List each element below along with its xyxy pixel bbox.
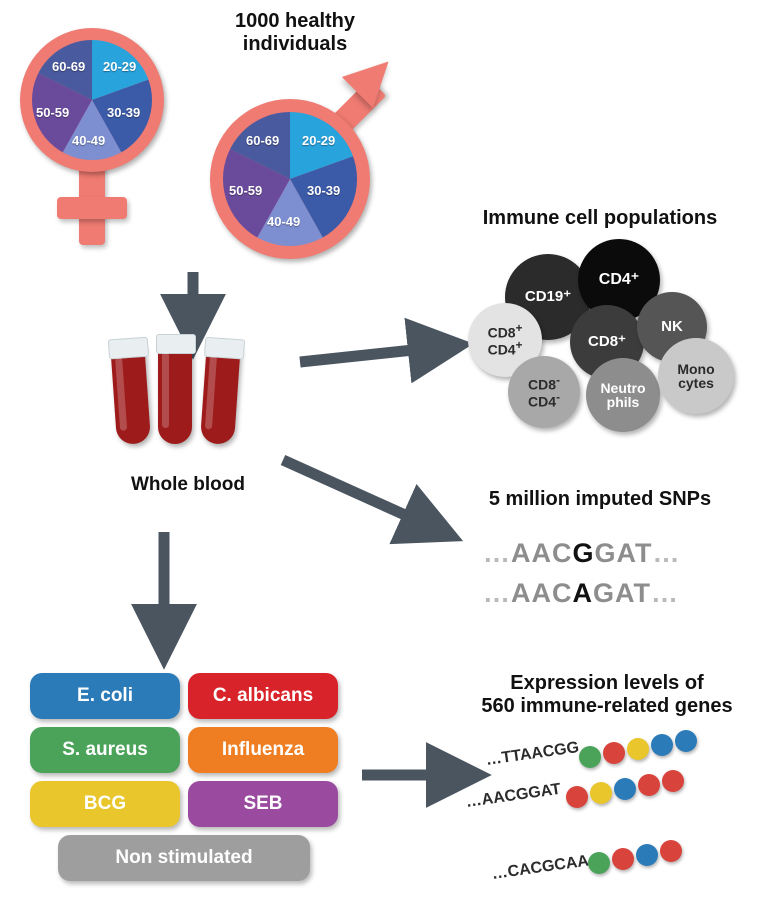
snp-sequence-2: …AACAGAT… <box>483 578 679 609</box>
stimulus-seb[interactable]: SEB <box>188 781 338 827</box>
snp-suffix: … <box>653 538 681 568</box>
expression-title-line1: Expression levels of <box>452 672 762 695</box>
female-label-50-59: 50-59 <box>36 105 69 120</box>
immune-cell-label: Neutro <box>600 381 645 395</box>
snp-prefix: … <box>483 538 511 568</box>
expression-bead <box>566 786 588 808</box>
female-stem-horizontal <box>57 197 127 219</box>
male-symbol: 20-29 30-39 40-49 50-59 60-69 <box>196 55 416 275</box>
stimulus-non-stimulated[interactable]: Non stimulated <box>58 835 310 881</box>
expression-sequence: …CACGCAA <box>491 852 590 883</box>
blood-tube <box>199 343 241 455</box>
expression-bead <box>614 778 636 800</box>
male-label-20-29: 20-29 <box>302 133 335 148</box>
immune-cell-label: CD4+ <box>488 340 523 357</box>
snp-head: AAC <box>511 538 573 568</box>
snp-tail: GAT <box>593 578 651 608</box>
arrow-blood-to-immune <box>300 348 432 362</box>
immune-cell-label: CD19⁺ <box>525 289 571 304</box>
expression-bead <box>636 844 658 866</box>
expression-bead <box>627 738 649 760</box>
cohort-title-line2: individuals <box>170 33 420 56</box>
immune-cell-label: phils <box>607 395 640 409</box>
arrow-blood-to-snps <box>283 460 425 524</box>
expression-title-line2: 560 immune-related genes <box>452 695 762 718</box>
snp-title: 5 million imputed SNPs <box>450 488 750 511</box>
expression-title: Expression levels of 560 immune-related … <box>452 672 762 718</box>
blood-tube <box>158 340 192 452</box>
expression-bead <box>603 742 625 764</box>
immune-cell-label: cytes <box>678 376 714 390</box>
expression-sequence: …AACGGAT <box>465 781 562 812</box>
snp-tail: GAT <box>595 538 653 568</box>
stimulus-label: C. albicans <box>213 685 313 707</box>
expression-bead <box>638 774 660 796</box>
stimulus-label: Non stimulated <box>115 847 252 869</box>
female-symbol: 20-29 30-39 40-49 50-59 60-69 <box>10 15 190 255</box>
expression-bead <box>579 746 601 768</box>
female-label-40-49: 40-49 <box>72 133 105 148</box>
snp-variant: A <box>573 578 594 608</box>
immune-cell-monocytes: Mono cytes <box>658 338 734 414</box>
male-label-50-59: 50-59 <box>229 183 262 198</box>
stimulus-s-aureus[interactable]: S. aureus <box>30 727 180 773</box>
expression-bead <box>660 840 682 862</box>
expression-sequence: …TTAACGG <box>485 739 581 770</box>
cohort-title: 1000 healthy individuals <box>170 10 420 56</box>
expression-bead <box>651 734 673 756</box>
stimulus-label: Influenza <box>222 739 304 761</box>
female-label-30-39: 30-39 <box>107 105 140 120</box>
stimulus-label: E. coli <box>77 685 133 707</box>
immune-cell-cd8neg-cd4neg: CD8- CD4- <box>508 356 580 428</box>
female-label-20-29: 20-29 <box>103 59 136 74</box>
blood-tubes <box>108 330 268 460</box>
snp-sequence-1: …AACGGAT… <box>483 538 681 569</box>
cohort-title-line1: 1000 healthy <box>170 10 420 33</box>
immune-cell-label: NK <box>661 319 683 334</box>
immune-title: Immune cell populations <box>440 207 760 230</box>
male-label-30-39: 30-39 <box>307 183 340 198</box>
immune-cell-neutrophils: Neutro phils <box>586 358 660 432</box>
snp-prefix: … <box>483 578 511 608</box>
stimulus-influenza[interactable]: Influenza <box>188 727 338 773</box>
figure-canvas: 1000 healthy individuals 20-29 30-39 40-… <box>0 0 771 922</box>
immune-cell-label: CD8⁺ <box>588 334 626 349</box>
expression-bead <box>588 852 610 874</box>
snp-head: AAC <box>511 578 573 608</box>
immune-cell-label: Mono <box>677 362 714 376</box>
immune-cell-label: CD8- <box>528 375 560 392</box>
blood-tube <box>110 343 152 455</box>
immune-cell-label: CD8+ <box>488 323 523 340</box>
male-label-60-69: 60-69 <box>246 133 279 148</box>
stimulus-bcg[interactable]: BCG <box>30 781 180 827</box>
stimulus-label: BCG <box>84 793 126 815</box>
snp-variant: G <box>573 538 595 568</box>
expression-bead <box>675 730 697 752</box>
expression-bead <box>590 782 612 804</box>
immune-cell-label: CD4⁺ <box>599 272 639 288</box>
male-label-40-49: 40-49 <box>267 214 300 229</box>
immune-cell-label: CD4- <box>528 392 560 409</box>
female-label-60-69: 60-69 <box>52 59 85 74</box>
stimulus-label: SEB <box>243 793 282 815</box>
whole-blood-label: Whole blood <box>88 474 288 496</box>
snp-suffix: … <box>651 578 679 608</box>
stimulus-e-coli[interactable]: E. coli <box>30 673 180 719</box>
stimulus-label: S. aureus <box>62 739 148 761</box>
expression-bead <box>612 848 634 870</box>
expression-bead <box>662 770 684 792</box>
stimulus-c-albicans[interactable]: C. albicans <box>188 673 338 719</box>
